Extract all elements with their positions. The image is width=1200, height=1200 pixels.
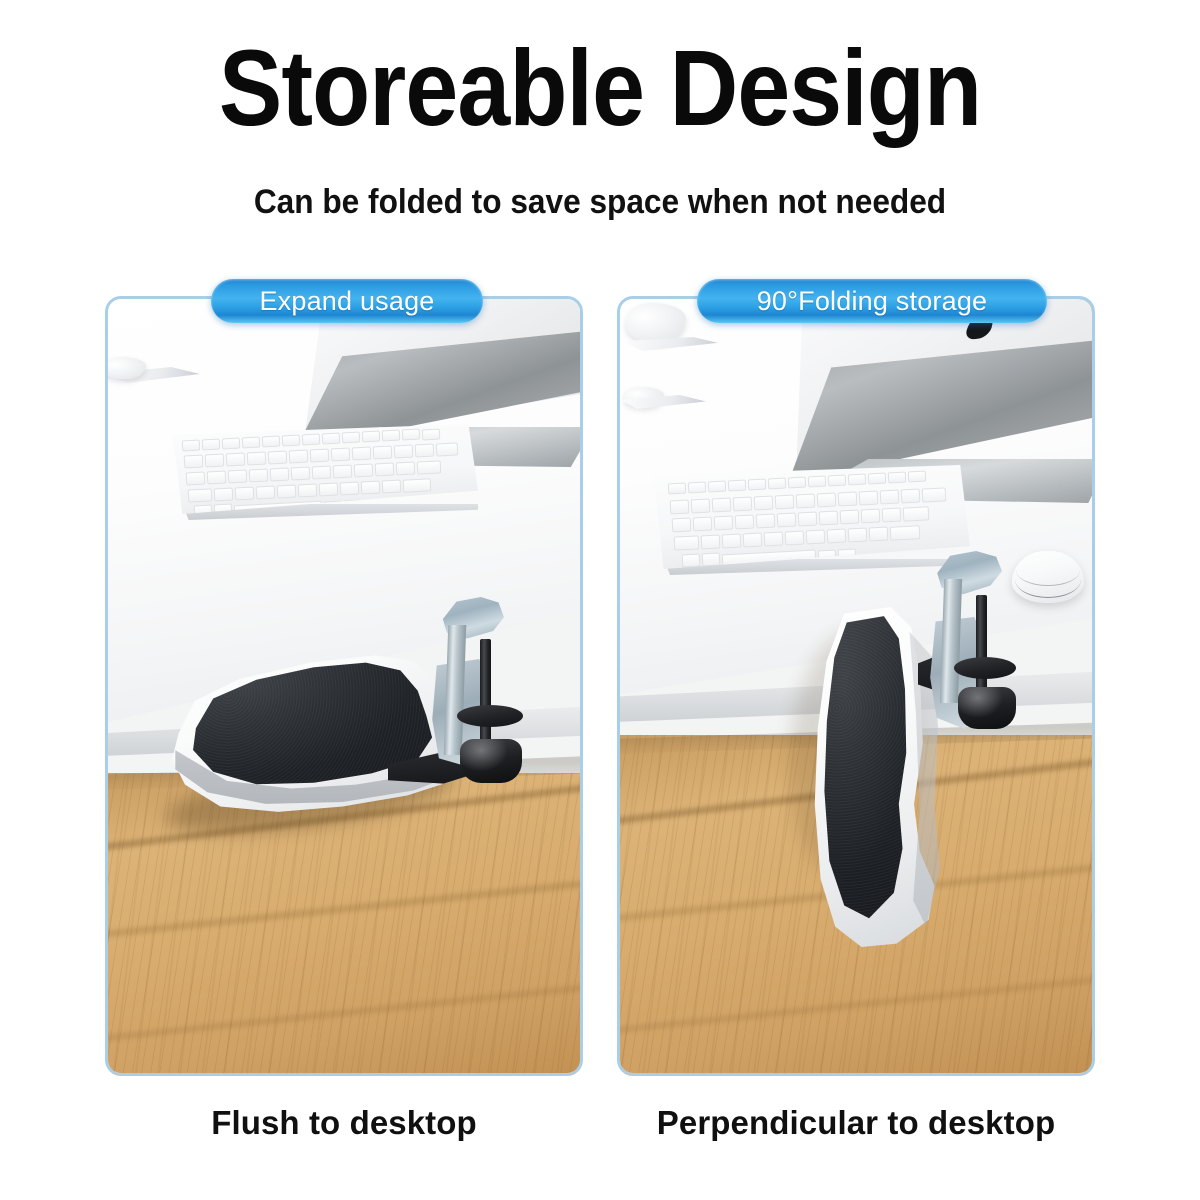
floor-plank-seam	[108, 863, 580, 950]
photo-scene-expand	[108, 299, 580, 1073]
caption-perpendicular-to-desktop: Perpendicular to desktop	[617, 1104, 1095, 1142]
clamp-screw-disc	[457, 705, 523, 727]
mouse-seam	[1015, 561, 1081, 598]
badge-expand-usage: Expand usage	[211, 279, 483, 323]
floor-plank-seam	[620, 959, 1092, 1046]
clamp-screw-knob	[958, 687, 1016, 729]
infographic-page: Storeable Design Can be folded to save s…	[0, 0, 1200, 1200]
clamp-screw-rod	[976, 595, 987, 699]
panel-expand-usage	[105, 296, 583, 1076]
badge-label: 90°Folding storage	[757, 286, 988, 317]
page-title: Storeable Design	[72, 34, 1128, 142]
clamp-screw-disc	[954, 657, 1016, 679]
badge-label: Expand usage	[259, 286, 434, 317]
clamp-screw-knob	[460, 739, 522, 783]
caption-flush-to-desktop: Flush to desktop	[105, 1104, 583, 1142]
page-subtitle: Can be folded to save space when not nee…	[42, 182, 1158, 222]
clamp-screw-rod	[480, 639, 491, 749]
badge-folding-storage: 90°Folding storage	[697, 279, 1047, 323]
panel-folding-storage	[617, 296, 1095, 1076]
floor-plank-seam	[108, 967, 580, 1054]
photo-scene-fold	[620, 299, 1092, 1073]
